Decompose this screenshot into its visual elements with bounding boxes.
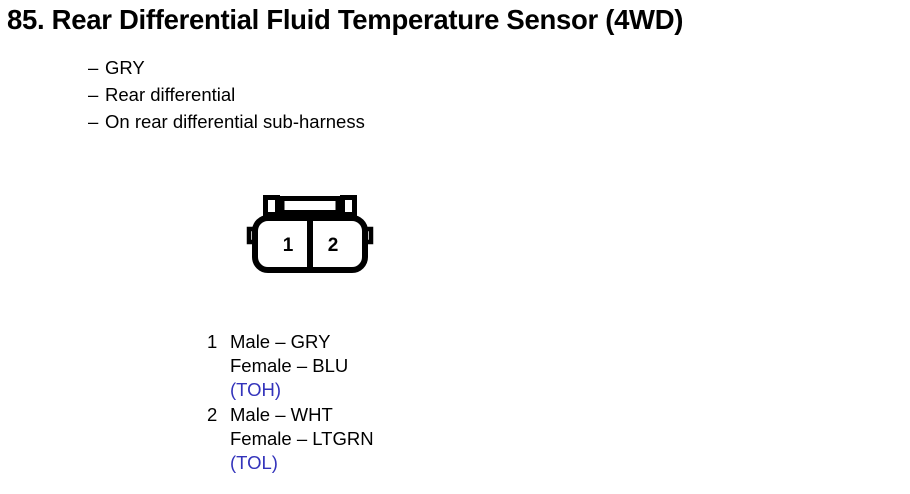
pin-entry-1: 1Male – GRY Female – BLU (TOH)	[207, 330, 374, 403]
latch-bar-center-icon	[282, 199, 338, 213]
list-item: –On rear differential sub-harness	[88, 108, 365, 135]
description-bullet-list: –GRY –Rear differential –On rear differe…	[88, 54, 365, 135]
dash-bullet-icon: –	[88, 54, 105, 81]
list-item: –GRY	[88, 54, 365, 81]
connector-body-group	[249, 218, 371, 270]
list-item-label: GRY	[105, 57, 145, 78]
pin-code-line: (TOL)	[207, 451, 374, 475]
page-title: 85. Rear Differential Fluid Temperature …	[7, 4, 683, 36]
pin-female-label: Female – LTGRN	[230, 428, 374, 449]
pin-number: 2	[207, 403, 230, 427]
cavity-number-2: 2	[328, 235, 339, 256]
dash-bullet-icon: –	[88, 81, 105, 108]
connector-diagram: 1 2	[240, 192, 380, 278]
pin-female-line: Female – LTGRN	[207, 427, 374, 451]
pin-female-line: Female – BLU	[207, 354, 374, 378]
pin-male-label: Male – WHT	[230, 404, 333, 425]
pin-entry-2: 2Male – WHT Female – LTGRN (TOL)	[207, 403, 374, 476]
pin-legend: 1Male – GRY Female – BLU (TOH) 2Male – W…	[207, 330, 374, 475]
connector-top-latch-group	[266, 198, 355, 215]
pin-male-label: Male – GRY	[230, 331, 330, 352]
pin-number: 1	[207, 330, 230, 354]
pin-code-label: (TOL)	[230, 452, 278, 473]
list-item-label: Rear differential	[105, 84, 235, 105]
pin-code-label: (TOH)	[230, 379, 281, 400]
latch-tab-right-icon	[343, 198, 355, 215]
list-item: –Rear differential	[88, 81, 365, 108]
pin-code-line: (TOH)	[207, 378, 374, 402]
dash-bullet-icon: –	[88, 108, 105, 135]
page-root: 85. Rear Differential Fluid Temperature …	[0, 0, 910, 494]
pin-male-line: 1Male – GRY	[207, 330, 374, 354]
cavity-number-1: 1	[283, 235, 294, 256]
list-item-label: On rear differential sub-harness	[105, 111, 365, 132]
pin-female-label: Female – BLU	[230, 355, 348, 376]
latch-tab-left-icon	[266, 198, 278, 215]
pin-male-line: 2Male – WHT	[207, 403, 374, 427]
